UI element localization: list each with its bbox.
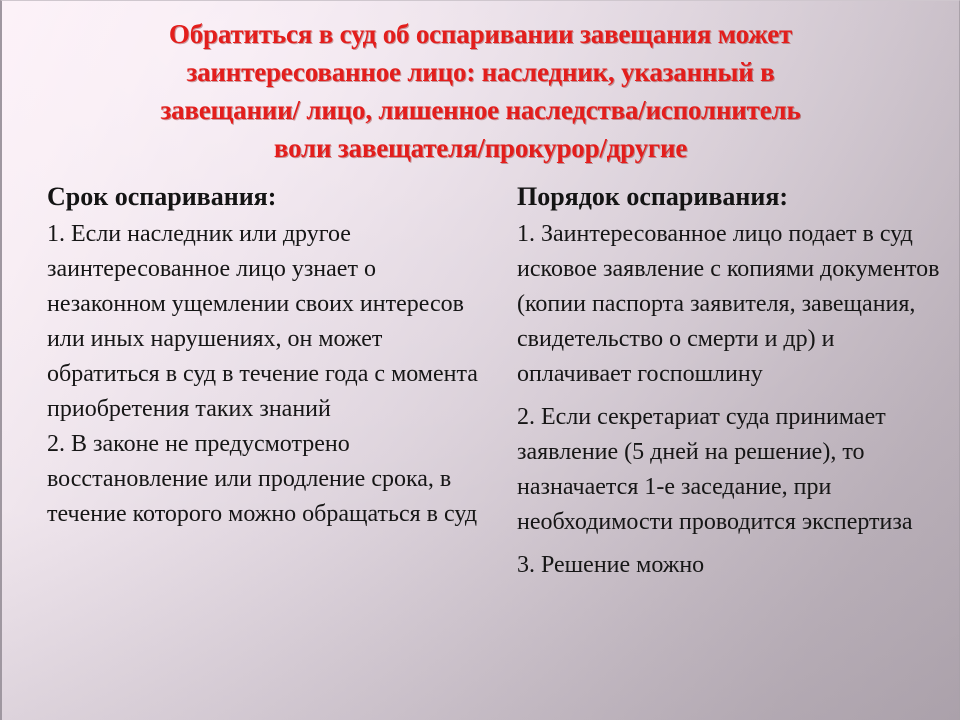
content-columns: Срок оспаривания: 1. Если наследник или … [2,181,959,583]
title-line-4: воли завещателя/прокурор/другие [20,129,941,167]
column-heading-right: Порядок оспаривания: [517,181,951,213]
slide-title: Обратиться в суд об оспаривании завещани… [2,1,959,167]
slide-canvas: Обратиться в суд об оспаривании завещани… [0,0,960,720]
column-procedure-of-contest: Порядок оспаривания: 1. Заинтересованное… [499,181,951,583]
left-paragraph-1: 1. Если наследник или другое заинтересов… [47,217,481,427]
column-term-of-contest: Срок оспаривания: 1. Если наследник или … [47,181,499,532]
right-paragraph-3: 3. Решение можно [517,548,951,583]
title-line-1: Обратиться в суд об оспаривании завещани… [20,15,941,53]
title-line-2: заинтересованное лицо: наследник, указан… [20,53,941,91]
column-heading-left: Срок оспаривания: [47,181,481,213]
right-paragraph-2: 2. Если секретариат суда принимает заявл… [517,400,951,540]
left-paragraph-2: 2. В законе не предусмотрено восстановле… [47,427,481,532]
right-paragraph-1: 1. Заинтересованное лицо подает в суд ис… [517,217,951,392]
title-line-3: завещании/ лицо, лишенное наследства/исп… [20,91,941,129]
